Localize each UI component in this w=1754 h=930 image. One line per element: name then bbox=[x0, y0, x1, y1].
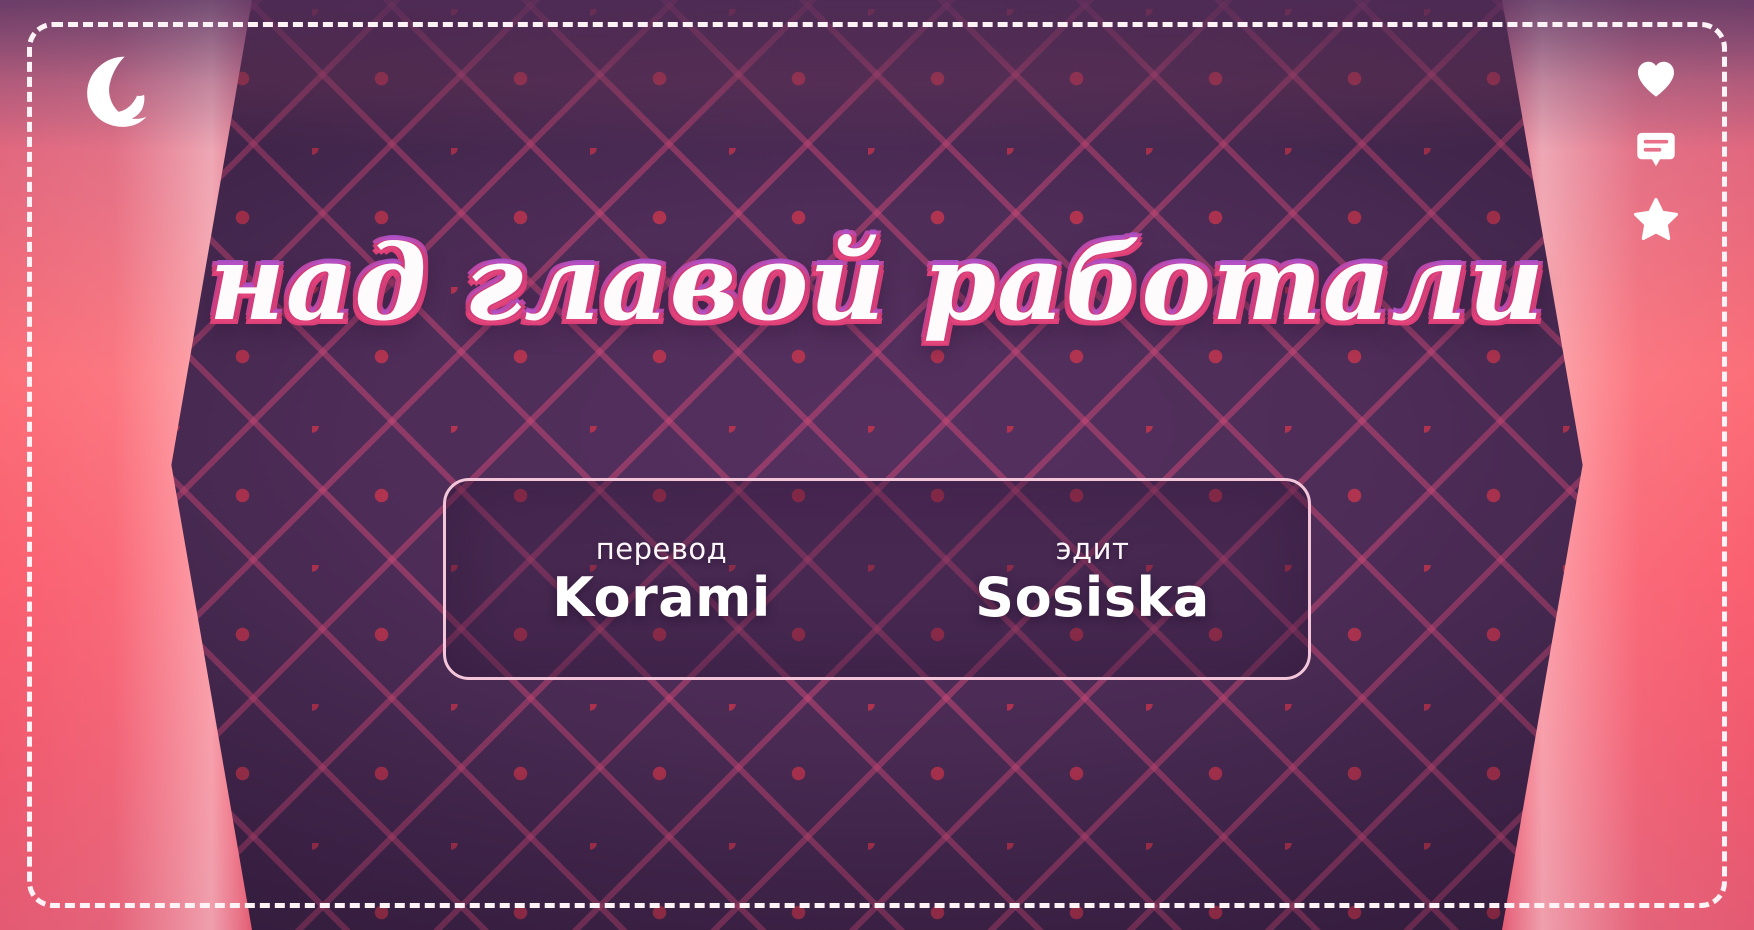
background-vignette bbox=[0, 0, 1754, 930]
action-icon-rail bbox=[1632, 55, 1680, 243]
heart-icon[interactable] bbox=[1632, 55, 1680, 103]
credit-name-value: Korami bbox=[454, 570, 869, 627]
credits-page: над главой работали перевод Korami эдит … bbox=[0, 0, 1754, 930]
credit-entry-translation: перевод Korami bbox=[446, 532, 877, 627]
credit-role-label: перевод bbox=[454, 532, 869, 566]
credit-name-value: Sosiska bbox=[885, 570, 1300, 627]
comment-icon[interactable] bbox=[1632, 125, 1680, 173]
credits-card: перевод Korami эдит Sosiska bbox=[443, 478, 1311, 680]
credit-entry-edit: эдит Sosiska bbox=[877, 532, 1308, 627]
credit-role-label: эдит bbox=[885, 532, 1300, 566]
crescent-moon-icon[interactable] bbox=[70, 52, 148, 130]
star-icon[interactable] bbox=[1632, 195, 1680, 243]
